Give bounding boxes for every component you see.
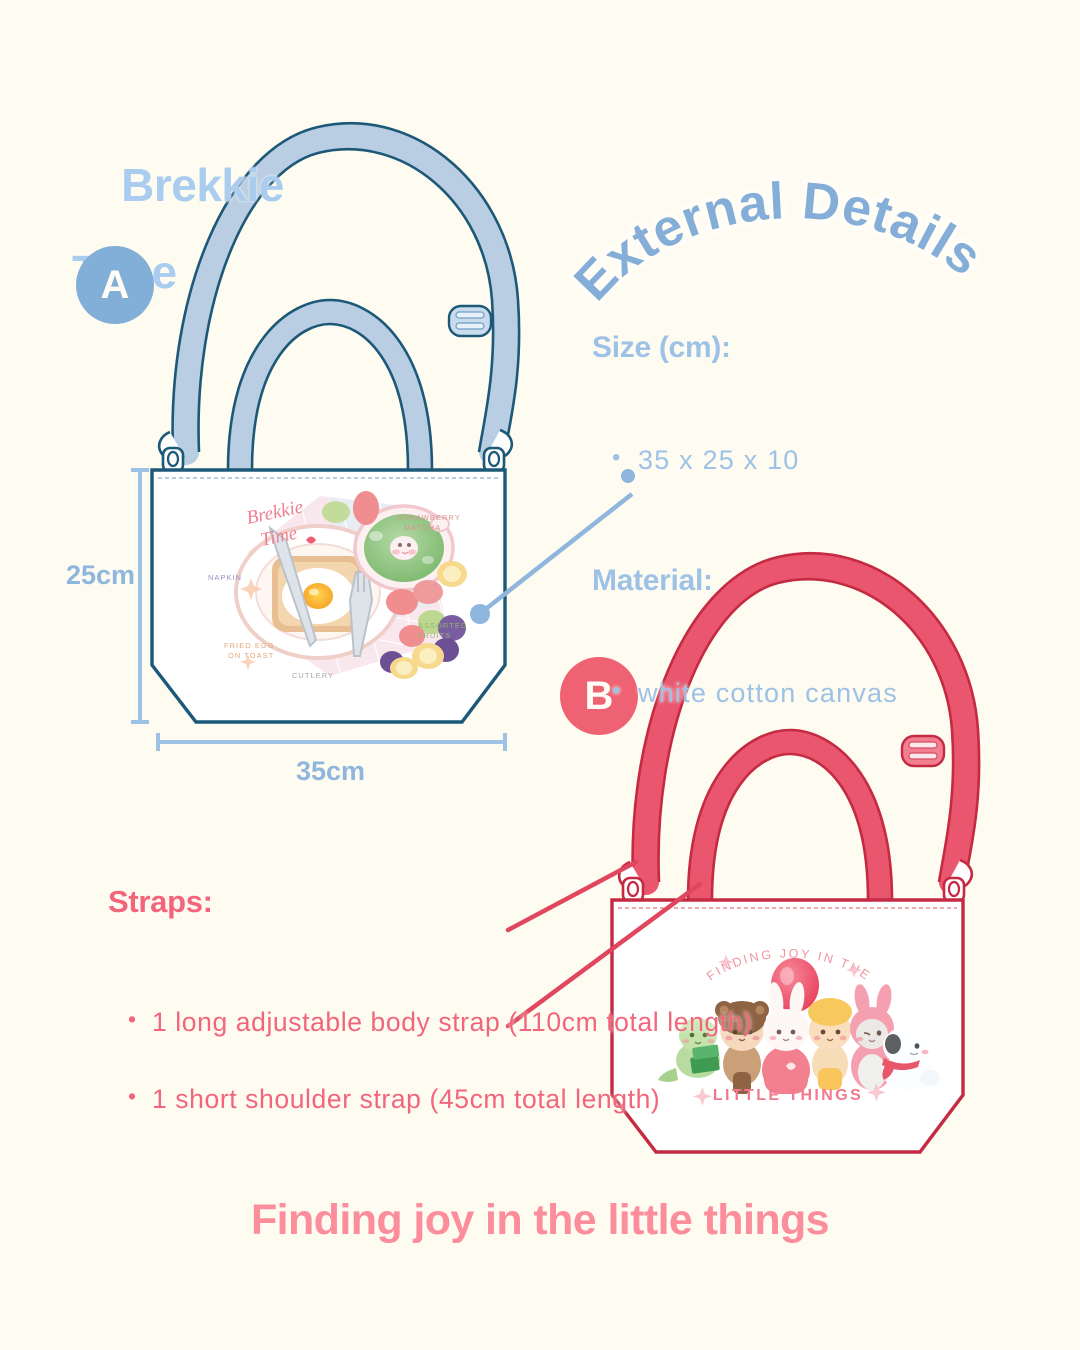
product-a-title-line1: Brekkie [121,159,284,211]
bag-b-print-bottom-text: LITTLE THINGS [713,1087,863,1104]
svg-text:External Details: External Details [564,172,993,312]
straps-section: Straps: 1 long adjustable body strap (11… [108,848,562,1192]
badge-a: A [76,246,154,324]
dimension-label-height: 25cm [66,560,135,591]
size-values-list: 35 x 25 x 10 [592,407,898,514]
external-details-list: Size (cm): 35 x 25 x 10 Material: white … [592,295,898,797]
dimension-label-width: 35cm [296,756,365,787]
tagline: Finding joy in the little things [0,1196,1080,1245]
material-values-list: white cotton canvas [592,640,898,747]
material-value: white cotton canvas [638,676,898,711]
size-value: 35 x 25 x 10 [638,443,898,478]
strap-item: 1 long adjustable body strap (110cm tota… [152,1002,562,1043]
straps-list: 1 long adjustable body strap (110cm tota… [108,966,562,1156]
straps-label: Straps: [108,884,562,920]
size-label: Size (cm): [592,331,898,365]
infographic-canvas: Brekkie Time STRAWBERRY MATCHA NAPKIN FR… [0,0,1080,1350]
external-heading-fill: External Details [564,172,993,312]
bag-b-strap-adjuster [902,736,944,766]
strap-item: 1 short shoulder strap (45cm total lengt… [152,1079,562,1120]
material-label: Material: [592,564,898,598]
